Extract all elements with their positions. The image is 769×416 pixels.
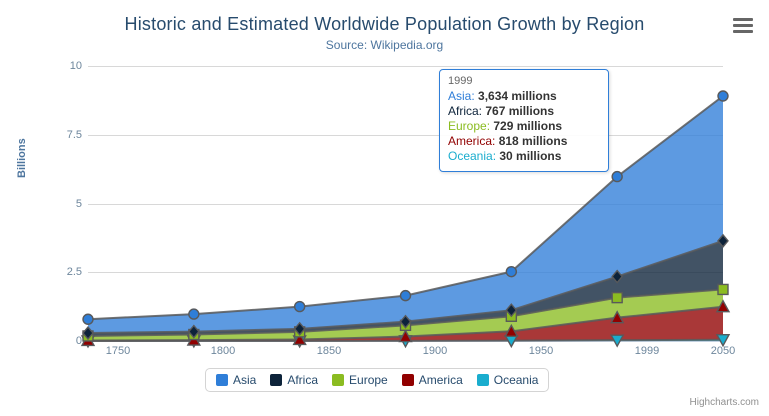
legend-item-america[interactable]: America <box>402 373 463 387</box>
marker-asia-1800 <box>189 309 199 319</box>
tooltip-series-name: Asia: <box>448 89 478 103</box>
highcharts-container: Historic and Estimated Worldwide Populat… <box>0 0 769 416</box>
legend-swatch-asia <box>216 374 228 386</box>
credits-label: Highcharts.com <box>690 397 759 408</box>
marker-europe-2050 <box>718 284 728 294</box>
tooltip-series-name: Oceania: <box>448 149 499 163</box>
legend-label: Europe <box>349 373 388 387</box>
legend-swatch-oceania <box>477 374 489 386</box>
marker-europe-1999 <box>612 293 622 303</box>
legend-item-europe[interactable]: Europe <box>332 373 388 387</box>
legend-label: Asia <box>233 373 256 387</box>
legend-label: Africa <box>287 373 318 387</box>
tooltip-header: 1999 <box>448 75 600 87</box>
tooltip-series-name: Europe: <box>448 119 493 133</box>
legend-label: America <box>419 373 463 387</box>
marker-asia-1999 <box>612 172 622 182</box>
marker-asia-1750 <box>83 314 93 324</box>
legend-item-oceania[interactable]: Oceania <box>477 373 539 387</box>
tooltip: 1999 Asia: 3,634 millionsAfrica: 767 mil… <box>439 69 609 172</box>
tooltip-series-value: 729 millions <box>493 119 562 133</box>
tooltip-series-name: America: <box>448 134 499 148</box>
marker-asia-1900 <box>401 291 411 301</box>
stacked-areas <box>88 96 723 341</box>
marker-asia-1950 <box>506 267 516 277</box>
tooltip-rows: Asia: 3,634 millionsAfrica: 767 millions… <box>448 89 600 164</box>
legend-label: Oceania <box>494 373 539 387</box>
tooltip-row-africa: Africa: 767 millions <box>448 104 600 119</box>
tooltip-series-value: 818 millions <box>499 134 568 148</box>
series-layer <box>0 0 769 416</box>
tooltip-series-value: 30 millions <box>499 149 561 163</box>
legend[interactable]: AsiaAfricaEuropeAmericaOceania <box>205 368 549 392</box>
legend-swatch-america <box>402 374 414 386</box>
legend-item-africa[interactable]: Africa <box>270 373 318 387</box>
marker-asia-1850 <box>295 302 305 312</box>
legend-swatch-africa <box>270 374 282 386</box>
tooltip-row-asia: Asia: 3,634 millions <box>448 89 600 104</box>
tooltip-series-value: 3,634 millions <box>478 89 557 103</box>
marker-asia-2050 <box>718 91 728 101</box>
tooltip-series-name: Africa: <box>448 104 485 118</box>
legend-swatch-europe <box>332 374 344 386</box>
tooltip-row-europe: Europe: 729 millions <box>448 119 600 134</box>
legend-item-asia[interactable]: Asia <box>216 373 256 387</box>
tooltip-row-oceania: Oceania: 30 millions <box>448 149 600 164</box>
tooltip-series-value: 767 millions <box>485 104 554 118</box>
tooltip-row-america: America: 818 millions <box>448 134 600 149</box>
